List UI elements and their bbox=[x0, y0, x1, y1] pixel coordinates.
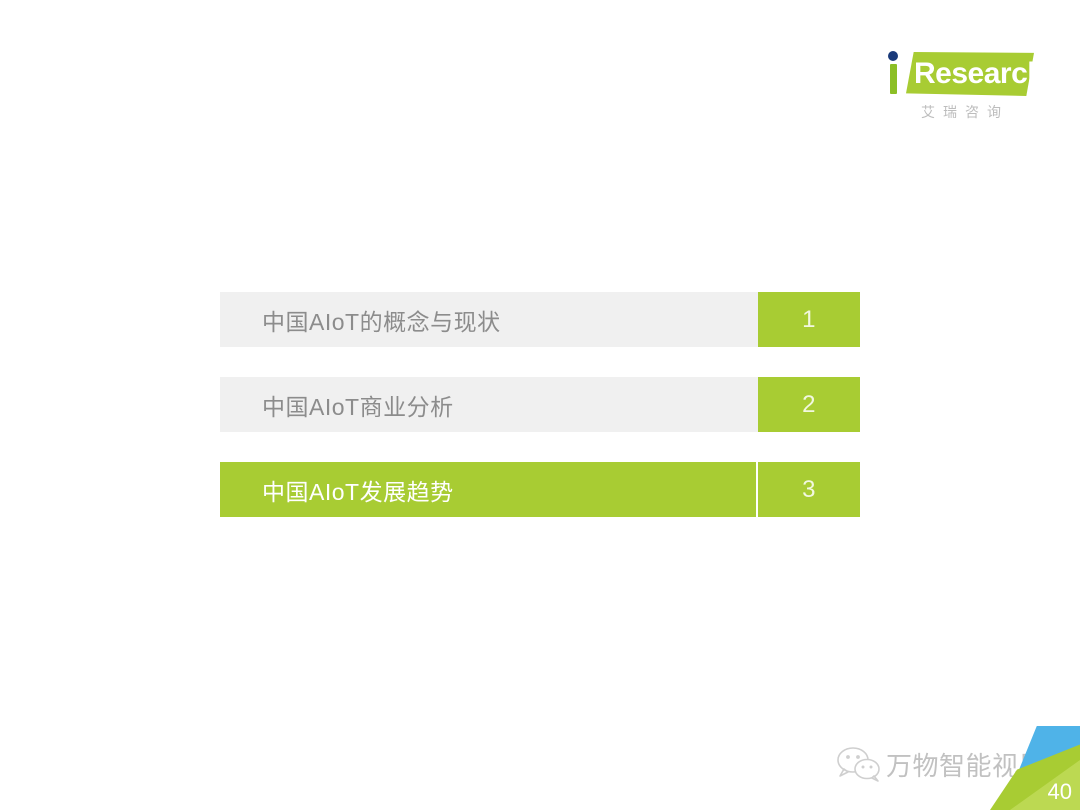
logo-mark: Research bbox=[884, 48, 1034, 100]
iresearch-logo: Research 艾瑞咨询 bbox=[884, 48, 1034, 130]
agenda-number-1: 1 bbox=[758, 292, 860, 347]
agenda-number-3: 3 bbox=[758, 462, 860, 517]
page-number: 40 bbox=[1048, 780, 1072, 804]
agenda-label-2: 中国AIoT商业分析 bbox=[220, 377, 758, 432]
logo-i-stem bbox=[890, 64, 897, 94]
agenda-list: 中国AIoT的概念与现状 1 中国AIoT商业分析 2 中国AIoT发展趋势 3 bbox=[220, 292, 860, 517]
agenda-label-1: 中国AIoT的概念与现状 bbox=[220, 292, 758, 347]
logo-subtitle: 艾瑞咨询 bbox=[894, 102, 1036, 122]
logo-i-dot-icon bbox=[888, 51, 898, 61]
agenda-number-2: 2 bbox=[758, 377, 860, 432]
agenda-row-3[interactable]: 中国AIoT发展趋势 3 bbox=[220, 462, 860, 517]
agenda-row-2[interactable]: 中国AIoT商业分析 2 bbox=[220, 377, 860, 432]
agenda-row-1[interactable]: 中国AIoT的概念与现状 1 bbox=[220, 292, 860, 347]
wechat-icon bbox=[836, 745, 880, 783]
agenda-label-3: 中国AIoT发展趋势 bbox=[220, 462, 756, 517]
slide-canvas: Research 艾瑞咨询 中国AIoT的概念与现状 1 中国AIoT商业分析 … bbox=[0, 0, 1080, 810]
logo-research-text: Research bbox=[914, 56, 1034, 92]
